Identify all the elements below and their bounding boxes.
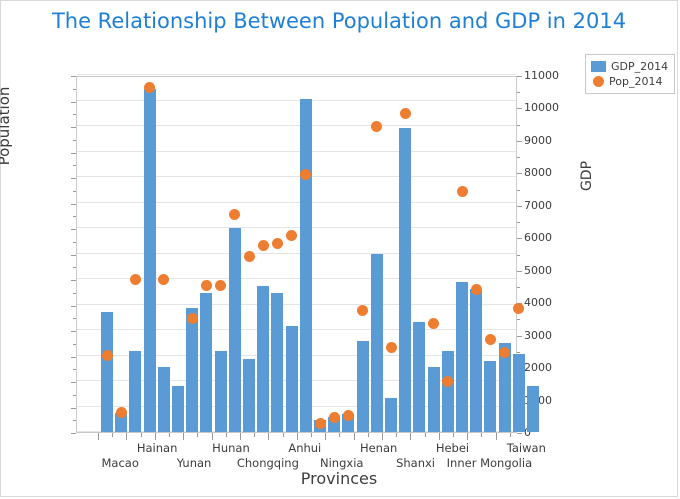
scatter-point[interactable] xyxy=(371,121,382,132)
x-axis-tick xyxy=(325,433,326,440)
y2-axis-minor-tick xyxy=(517,190,520,191)
y2-axis-minor-tick xyxy=(517,157,520,158)
y2-axis-minor-tick xyxy=(517,352,520,353)
scatter-point[interactable] xyxy=(229,209,240,220)
bar[interactable] xyxy=(172,386,184,432)
y2-axis-tick-label: 8000 xyxy=(524,167,552,178)
bar[interactable] xyxy=(144,89,156,432)
x-axis-tick xyxy=(496,433,497,440)
bar[interactable] xyxy=(442,351,454,432)
legend-item-label: Pop_2014 xyxy=(609,75,662,88)
scatter-point[interactable] xyxy=(244,251,255,262)
scatter-point[interactable] xyxy=(102,350,113,361)
x-axis-tick xyxy=(396,433,397,437)
bar[interactable] xyxy=(484,361,496,432)
scatter-point[interactable] xyxy=(258,240,269,251)
x-axis-tick xyxy=(155,433,156,440)
bar[interactable] xyxy=(215,351,227,432)
legend: GDP_2014 Pop_2014 xyxy=(585,54,675,94)
x-axis-tick xyxy=(354,433,355,440)
x-axis-tick-label: Anhui xyxy=(288,441,321,455)
x-axis-tick xyxy=(283,433,284,437)
x-axis-tick xyxy=(368,433,369,437)
x-axis-title: Provinces xyxy=(1,469,677,488)
bar[interactable] xyxy=(271,293,283,432)
data-layer xyxy=(77,77,516,432)
y2-axis-tick-mark xyxy=(517,108,522,109)
x-axis-tick xyxy=(297,433,298,440)
bar[interactable] xyxy=(385,398,397,432)
scatter-point[interactable] xyxy=(315,418,326,429)
x-axis-tick-label: Hainan xyxy=(137,441,178,455)
y2-axis-minor-tick xyxy=(517,222,520,223)
x-axis-tick-label: Taiwan xyxy=(507,441,546,455)
scatter-point[interactable] xyxy=(116,407,127,418)
bar[interactable] xyxy=(527,386,539,432)
bar[interactable] xyxy=(286,326,298,432)
bar[interactable] xyxy=(129,351,141,432)
x-axis-tick-label: Ningxia xyxy=(320,456,363,470)
bar[interactable] xyxy=(158,367,170,432)
x-axis-tick-label: Hebei xyxy=(436,441,469,455)
bar[interactable] xyxy=(357,341,369,432)
y2-axis-tick-mark xyxy=(517,141,522,142)
bar[interactable] xyxy=(413,322,425,432)
x-axis-tick xyxy=(311,433,312,437)
y-axis-title-right: GDP xyxy=(579,136,595,216)
bar[interactable] xyxy=(186,308,198,432)
y2-axis-tick-mark xyxy=(517,433,522,434)
bar[interactable] xyxy=(470,289,482,432)
legend-item-label: GDP_2014 xyxy=(611,60,668,73)
x-axis-tick xyxy=(212,433,213,440)
bar[interactable] xyxy=(513,354,525,432)
bar[interactable] xyxy=(399,128,411,432)
scatter-point[interactable] xyxy=(329,412,340,423)
x-axis-tick xyxy=(439,433,440,440)
y2-axis-tick-label: 5000 xyxy=(524,265,552,276)
y2-axis-tick-label: 7000 xyxy=(524,200,552,211)
x-axis-tick xyxy=(425,433,426,437)
x-axis-tick xyxy=(183,433,184,440)
y2-axis-tick-label: 11000 xyxy=(524,70,559,81)
x-axis-tick xyxy=(240,433,241,440)
x-axis-tick xyxy=(467,433,468,440)
x-axis-tick xyxy=(112,433,113,437)
scatter-point[interactable] xyxy=(286,230,297,241)
chart-window: The Relationship Between Population and … xyxy=(0,0,678,497)
scatter-point[interactable] xyxy=(513,303,524,314)
x-axis-tick xyxy=(126,433,127,440)
x-axis-tick xyxy=(254,433,255,437)
scatter-point[interactable] xyxy=(400,108,411,119)
x-axis-ticks xyxy=(76,433,517,441)
x-axis-tick xyxy=(339,433,340,437)
legend-item[interactable]: GDP_2014 xyxy=(591,59,668,74)
bar[interactable] xyxy=(456,282,468,432)
x-axis-tick-label: Hunan xyxy=(212,441,250,455)
chart-title: The Relationship Between Population and … xyxy=(1,9,677,33)
bar[interactable] xyxy=(101,312,113,432)
scatter-point[interactable] xyxy=(485,334,496,345)
y2-axis-tick-mark xyxy=(517,238,522,239)
bar[interactable] xyxy=(300,99,312,432)
gridline xyxy=(77,74,516,75)
x-axis-tick xyxy=(141,433,142,437)
x-axis-tick-label: Chongqing xyxy=(237,456,299,470)
bar[interactable] xyxy=(200,293,212,432)
scatter-point[interactable] xyxy=(386,342,397,353)
scatter-point[interactable] xyxy=(215,280,226,291)
y2-axis-minor-tick xyxy=(517,125,520,126)
scatter-point[interactable] xyxy=(272,238,283,249)
x-axis-tick xyxy=(197,433,198,437)
x-axis-tick-label: Macao xyxy=(102,456,139,470)
bar[interactable] xyxy=(257,286,269,432)
bar[interactable] xyxy=(428,367,440,432)
scatter-point[interactable] xyxy=(158,274,169,285)
scatter-point[interactable] xyxy=(428,318,439,329)
bar-swatch-icon xyxy=(591,61,606,72)
y2-axis-minor-tick xyxy=(517,255,520,256)
x-axis-tick-label: Inner Mongolia xyxy=(447,456,532,470)
x-axis-tick xyxy=(382,433,383,440)
x-axis-tick xyxy=(510,433,511,437)
y2-axis-tick-label: 10000 xyxy=(524,102,559,113)
x-axis-tick xyxy=(481,433,482,437)
plot-area xyxy=(76,76,517,433)
scatter-point[interactable] xyxy=(187,313,198,324)
bar[interactable] xyxy=(229,228,241,433)
y2-axis-tick-mark xyxy=(517,336,522,337)
x-axis-tick-label: Yunan xyxy=(177,456,212,470)
x-axis-tick xyxy=(453,433,454,437)
x-axis-tick-label: Henan xyxy=(360,441,397,455)
y2-axis-tick-mark xyxy=(517,173,522,174)
y2-axis-tick-label: 6000 xyxy=(524,232,552,243)
y2-axis-tick-label: 3000 xyxy=(524,330,552,341)
scatter-point[interactable] xyxy=(457,186,468,197)
scatter-point[interactable] xyxy=(130,274,141,285)
y2-axis-tick-mark xyxy=(517,206,522,207)
y2-axis-tick-label: 4000 xyxy=(524,297,552,308)
x-axis-tick xyxy=(98,433,99,440)
x-axis-tick xyxy=(268,433,269,440)
scatter-point[interactable] xyxy=(201,280,212,291)
legend-item[interactable]: Pop_2014 xyxy=(591,74,668,89)
x-axis-tick xyxy=(410,433,411,440)
bar[interactable] xyxy=(243,359,255,432)
x-axis-tick-label: Shanxi xyxy=(396,456,435,470)
y-axis-title-left: Population xyxy=(0,56,13,196)
y2-axis-minor-tick xyxy=(517,319,520,320)
y2-axis-tick-label: 9000 xyxy=(524,135,552,146)
scatter-point[interactable] xyxy=(471,284,482,295)
dot-swatch-icon xyxy=(593,76,604,87)
y2-axis-tick-mark xyxy=(517,76,522,77)
scatter-point[interactable] xyxy=(300,169,311,180)
y2-axis-minor-tick xyxy=(517,287,520,288)
x-axis-tick xyxy=(226,433,227,437)
y2-axis-tick-mark xyxy=(517,271,522,272)
scatter-point[interactable] xyxy=(357,305,368,316)
x-axis-tick xyxy=(169,433,170,437)
y2-axis-tick-label: 2000 xyxy=(524,362,552,373)
y2-axis-minor-tick xyxy=(517,92,520,93)
bar[interactable] xyxy=(371,254,383,433)
